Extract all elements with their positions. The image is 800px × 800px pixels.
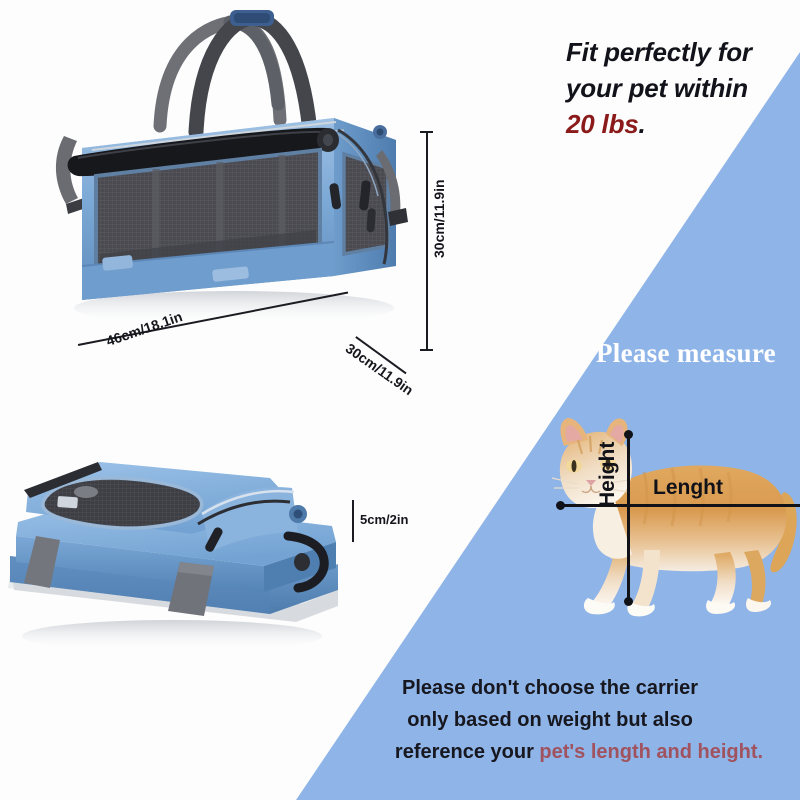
bottom-note-highlight: pet's length and height. — [539, 741, 763, 763]
carrier-folded-icon — [2, 440, 362, 660]
cat-height-label: Height — [596, 442, 620, 507]
infographic-canvas: 46cm/18.1in 30cm/11.9in 30cm/11.9in 5cm/… — [0, 0, 800, 800]
please-measure-heading: Please measure — [596, 338, 776, 369]
weight-limit-value: 20 lbs — [566, 109, 639, 139]
cat-photo-icon — [548, 404, 800, 636]
pet-carrier-folded-image — [2, 440, 362, 660]
headline-block: Fit perfectly for your pet within 20 lbs… — [566, 34, 800, 142]
headline-line-3: 20 lbs. — [566, 106, 800, 142]
bottom-note-line-1: Please don't choose the carrier — [300, 672, 800, 704]
bottom-note-line-3-prefix: reference your — [395, 741, 540, 763]
dimension-label-height: 30cm/11.9in — [431, 179, 447, 258]
bottom-note-line-3: reference your pet's length and height. — [300, 736, 800, 768]
dimension-label-folded-thickness: 5cm/2in — [360, 512, 408, 527]
headline-line-1: Fit perfectly for — [566, 34, 800, 70]
dimension-line-height — [426, 131, 428, 350]
cat-height-measure-line — [627, 434, 630, 602]
cat-photo — [548, 404, 800, 636]
headline-line-2: your pet within — [566, 70, 800, 106]
dimension-cap-height-bottom — [420, 349, 433, 351]
pet-carrier-open-image — [44, 8, 444, 358]
headline-period: . — [639, 109, 646, 139]
dimension-cap-height-top — [420, 131, 433, 133]
cat-height-bottom-dot — [624, 597, 633, 606]
cat-length-endpoint-dot — [556, 501, 565, 510]
carrier-open-icon — [44, 8, 444, 358]
bottom-note-line-2: only based on weight but also — [300, 704, 800, 736]
cat-height-top-dot — [624, 430, 633, 439]
dimension-line-thickness — [352, 500, 354, 542]
bottom-advisory-note: Please don't choose the carrier only bas… — [300, 672, 800, 768]
cat-length-label: Lenght — [653, 476, 723, 500]
